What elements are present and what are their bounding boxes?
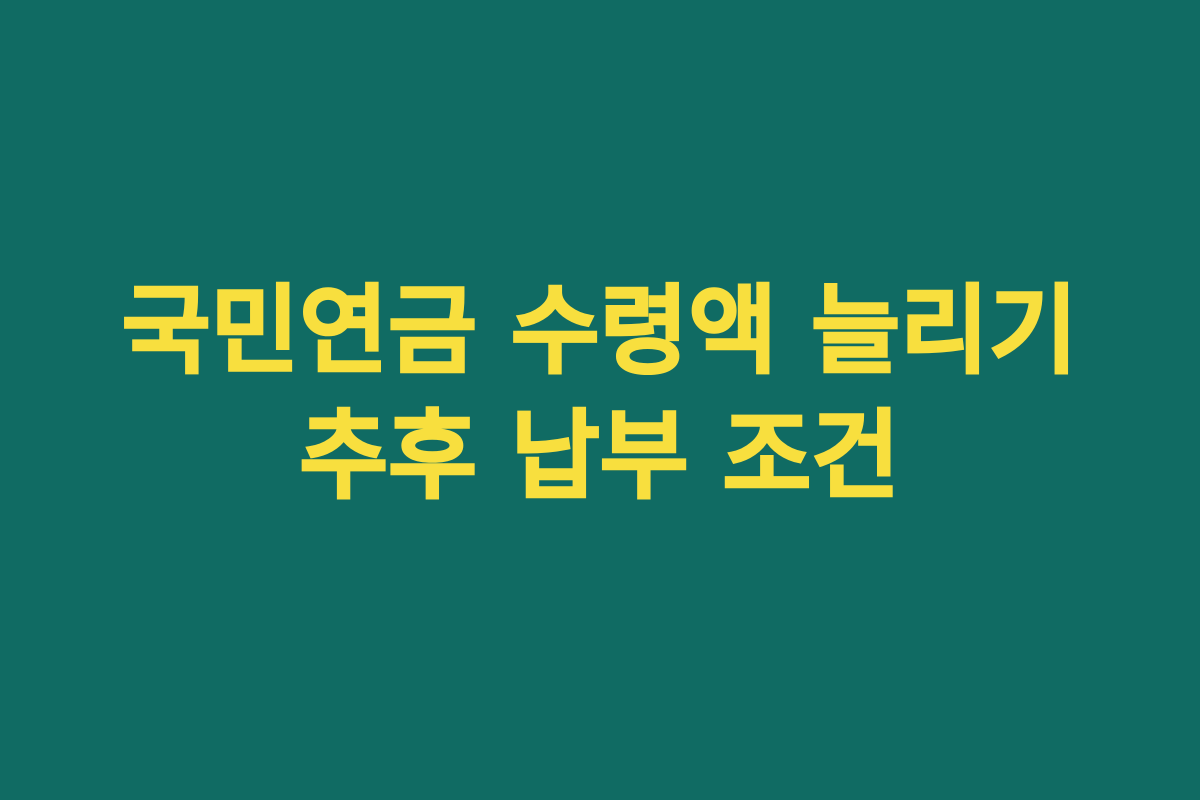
title-block: 국민연금 수령액 늘리기 추후 납부 조건 bbox=[0, 269, 1200, 519]
title-line-2: 추후 납부 조건 bbox=[40, 394, 1160, 519]
title-card-canvas: 국민연금 수령액 늘리기 추후 납부 조건 bbox=[0, 0, 1200, 800]
title-line-1: 국민연금 수령액 늘리기 bbox=[40, 269, 1160, 394]
